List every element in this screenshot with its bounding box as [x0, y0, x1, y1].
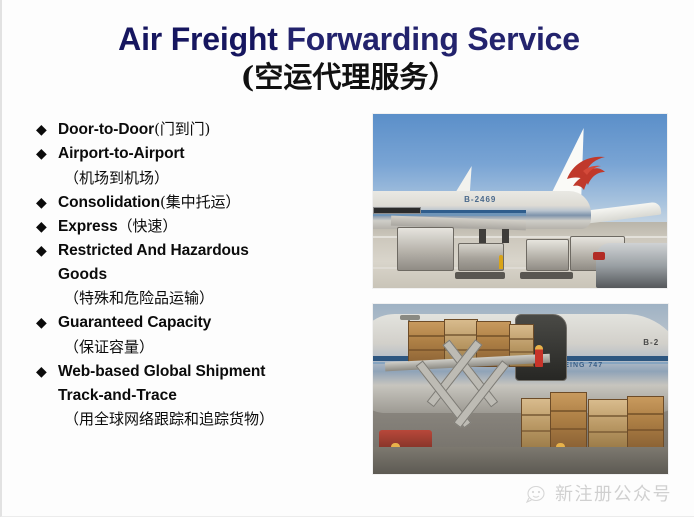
- photo-freighter-loading-crates: BOEING 747 B-2: [372, 303, 669, 475]
- list-item: ◆ Express（快速）: [36, 215, 366, 238]
- title-english-strong: Air Freight: [118, 21, 278, 57]
- wechat-smiley-icon: [526, 484, 548, 503]
- diamond-bullet-icon: ◆: [36, 191, 58, 214]
- cargo-dolly: [455, 272, 505, 279]
- fuselage-registration-text: B-2: [643, 338, 659, 347]
- apron-floor: [373, 447, 668, 474]
- list-item: ◆ Door-to-Door(门到门): [36, 118, 366, 141]
- list-item-continuation: Track-and-Trace: [36, 384, 366, 407]
- list-item-en: Consolidation: [58, 194, 160, 211]
- list-item: ◆ Guaranteed Capacity: [36, 311, 366, 334]
- watermark: 新注册公众号: [526, 480, 672, 506]
- smiley-glyph: [526, 484, 548, 503]
- ground-worker: [499, 255, 503, 269]
- scissor-lift-mechanism: [423, 375, 500, 453]
- list-item-cn: (集中托运）: [160, 193, 240, 211]
- list-item: ◆ Web-based Global Shipment: [36, 360, 366, 383]
- list-item-label: Consolidation(集中托运）: [58, 191, 366, 214]
- cargo-pallet: [526, 239, 569, 271]
- list-item-cn: (门到门): [154, 120, 210, 138]
- title-english-rest: Forwarding Service: [278, 21, 580, 57]
- diamond-bullet-icon: ◆: [36, 215, 58, 238]
- loading-worker-red: [535, 345, 543, 367]
- list-item-continuation: Goods: [36, 263, 366, 286]
- parked-vehicle: [596, 243, 668, 288]
- list-item-sub-cn: （用全球网络跟踪和追踪货物）: [36, 407, 366, 432]
- diamond-bullet-icon: ◆: [36, 311, 58, 334]
- list-item-label: Airport-to-Airport: [58, 142, 366, 165]
- feature-bullet-list: ◆ Door-to-Door(门到门) ◆ Airport-to-Airport…: [36, 118, 366, 432]
- list-item-sub-cn: （机场到机场）: [36, 166, 366, 191]
- wooden-crate: [588, 399, 628, 450]
- list-item: ◆ Restricted And Hazardous: [36, 239, 366, 262]
- diamond-bullet-icon: ◆: [36, 142, 58, 165]
- list-item-en: Express: [58, 218, 118, 235]
- photo-air-china-cargo-aircraft: B-2469: [372, 113, 668, 289]
- wooden-crate: [550, 392, 587, 450]
- list-item-label: Web-based Global Shipment: [58, 360, 366, 383]
- wooden-crate: [521, 398, 553, 451]
- list-item: ◆ Airport-to-Airport: [36, 142, 366, 165]
- diamond-bullet-icon: ◆: [36, 118, 58, 141]
- watermark-text: 新注册公众号: [555, 480, 672, 506]
- list-item-en: Airport-to-Airport: [58, 145, 184, 162]
- list-item: ◆ Consolidation(集中托运）: [36, 191, 366, 214]
- cargo-door: [373, 207, 421, 214]
- page-title: Air Freight Forwarding Service (空运代理服务）: [2, 22, 694, 95]
- list-item-cn: （快速）: [118, 217, 178, 235]
- list-item-label: Restricted And Hazardous: [58, 239, 366, 262]
- vehicle-tail-light: [593, 252, 605, 260]
- list-item-en: Restricted And Hazardous: [58, 242, 249, 259]
- diamond-bullet-icon: ◆: [36, 360, 58, 383]
- photo-bottom-scene: BOEING 747 B-2: [373, 304, 668, 474]
- cargo-dolly: [520, 272, 573, 279]
- wooden-crate: [627, 396, 664, 451]
- list-item-en: Guaranteed Capacity: [58, 314, 211, 331]
- diamond-bullet-icon: ◆: [36, 239, 58, 262]
- aircraft-registration-text: B-2469: [464, 195, 496, 204]
- list-item-en: Web-based Global Shipment: [58, 363, 265, 380]
- landing-gear: [502, 229, 509, 243]
- title-english: Air Freight Forwarding Service: [2, 22, 694, 57]
- list-item-label: Guaranteed Capacity: [58, 311, 366, 334]
- slide-canvas: Air Freight Forwarding Service (空运代理服务） …: [0, 0, 694, 517]
- list-item-label: Door-to-Door(门到门): [58, 118, 366, 141]
- cargo-pallet: [458, 243, 504, 271]
- title-chinese: (空运代理服务）: [2, 59, 694, 95]
- list-item-label: Express（快速）: [58, 215, 366, 238]
- list-item-sub-cn: （保证容量）: [36, 335, 366, 360]
- photo-top-scene: B-2469: [373, 114, 667, 288]
- list-item-en: Door-to-Door: [58, 121, 154, 138]
- landing-gear: [479, 229, 486, 243]
- list-item-sub-cn: （特殊和危险品运输）: [36, 286, 366, 311]
- cargo-pallet: [397, 227, 455, 271]
